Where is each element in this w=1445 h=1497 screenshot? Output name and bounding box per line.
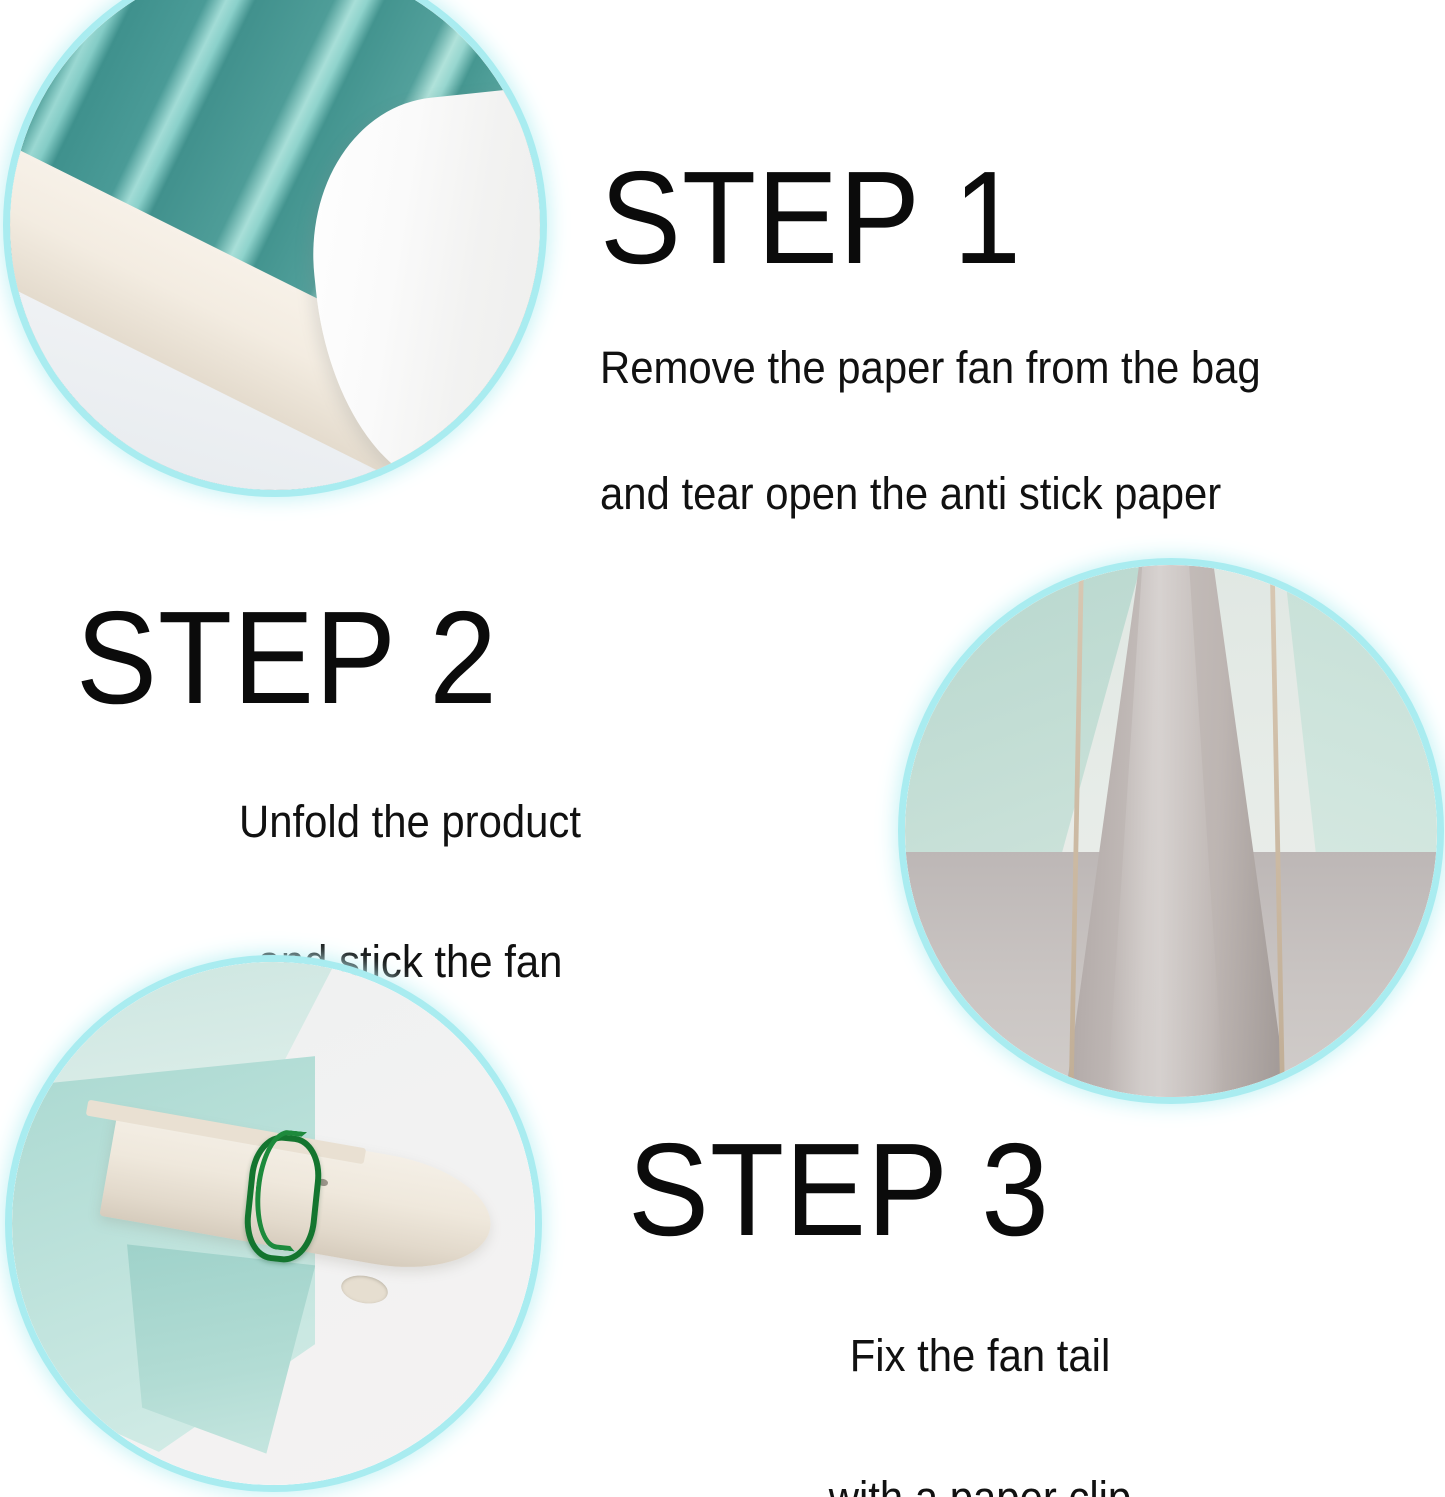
step-2-photo (905, 565, 1437, 1097)
step-2-description-line-1: Unfold the product (85, 780, 736, 864)
step-1-description-line-2: and tear open the anti stick paper (600, 452, 1261, 536)
step-3-description-line-2: with a paper clip (645, 1456, 1315, 1497)
step-2-title: STEP 2 (76, 592, 705, 724)
step-1-title: STEP 1 (600, 152, 1254, 284)
step-1-text-block: STEP 1 Remove the paper fan from the bag… (600, 152, 1310, 535)
step-3-description-line-1: Fix the fan tail (645, 1314, 1315, 1398)
step-3-title: STEP 3 (628, 1124, 1283, 1256)
step-3-text-block: STEP 3 Fix the fan tail with a paper cli… (620, 1124, 1340, 1497)
step-2-text-block: STEP 2 Unfold the product and stick the … (60, 592, 760, 1003)
instruction-graphic-page: STEP 1 Remove the paper fan from the bag… (0, 0, 1445, 1497)
step-1-description-line-1: Remove the paper fan from the bag (600, 326, 1261, 410)
step-1-photo (10, 0, 540, 490)
step-3-photo (12, 962, 535, 1485)
